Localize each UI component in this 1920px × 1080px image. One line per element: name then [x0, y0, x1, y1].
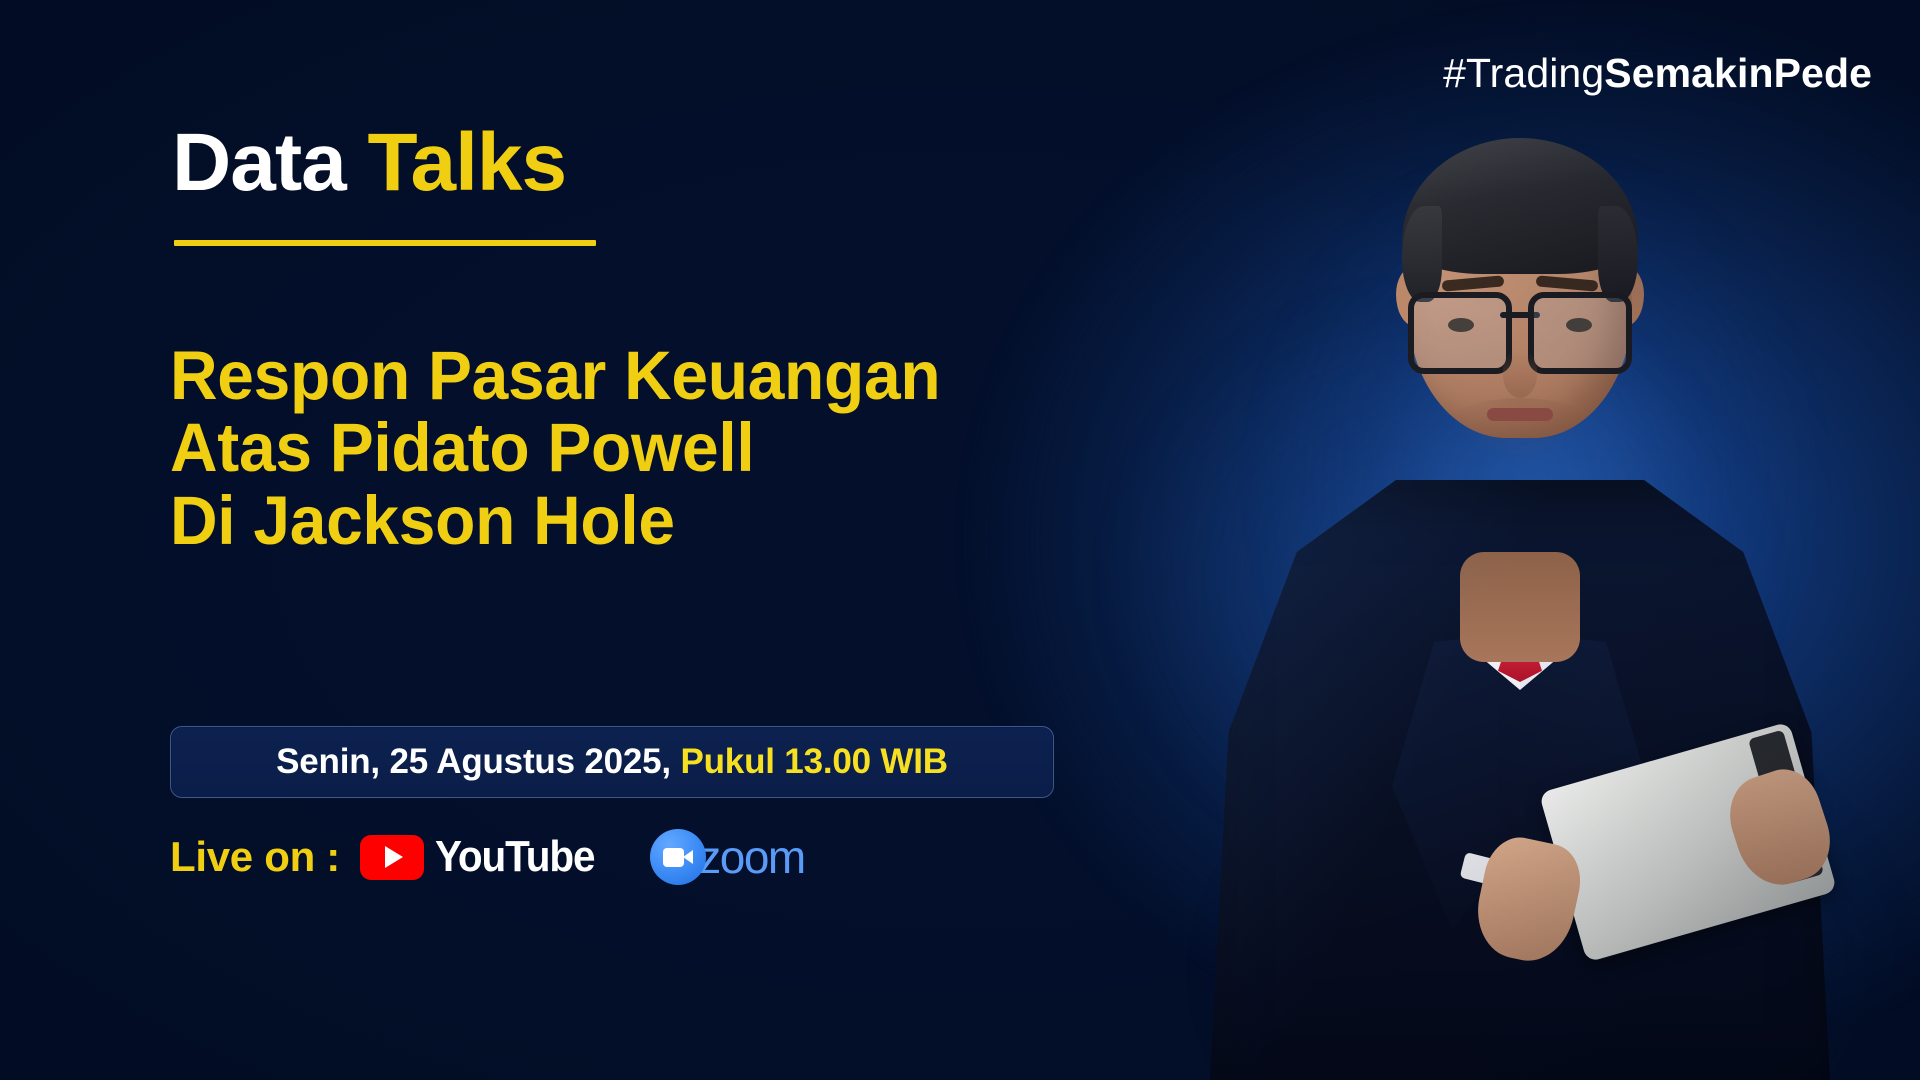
youtube-play-icon — [360, 835, 424, 880]
headline-line-1: Respon Pasar Keuangan — [170, 340, 1125, 412]
live-platforms-row: Live on : YouTube zoom — [170, 818, 805, 896]
video-camera-icon — [663, 848, 693, 867]
live-on-label: Live on : — [170, 833, 340, 881]
zoom-logo[interactable]: zoom — [650, 829, 804, 885]
hashtag-bold-part: SemakinPede — [1604, 50, 1872, 96]
headline-line-2: Atas Pidato Powell — [170, 412, 1125, 484]
show-title-first-word: Data — [172, 117, 346, 208]
schedule-time: Pukul 13.00 WIB — [680, 742, 947, 781]
zoom-video-camera-icon — [650, 829, 706, 885]
campaign-hashtag: #TradingSemakinPede — [1443, 50, 1872, 97]
zoom-wordmark: zoom — [698, 830, 804, 884]
show-title: Data Talks — [172, 122, 566, 204]
youtube-wordmark: YouTube — [435, 832, 594, 882]
show-title-second-word: Talks — [368, 117, 567, 208]
camera-lens-shape — [683, 850, 693, 864]
play-triangle-icon — [385, 846, 403, 868]
youtube-logo[interactable]: YouTube — [360, 832, 608, 882]
schedule-text: Senin, 25 Agustus 2025, Pukul 13.00 WIB — [276, 742, 948, 782]
promo-banner: #TradingSemakinPede Data Talks Respon Pa… — [0, 0, 1920, 1080]
show-title-underline — [174, 240, 596, 246]
event-headline: Respon Pasar Keuangan Atas Pidato Powell… — [170, 340, 1125, 557]
headline-line-3: Di Jackson Hole — [170, 485, 1125, 557]
schedule-date: Senin, 25 Agustus 2025, — [276, 742, 671, 781]
hashtag-light-part: #Trading — [1443, 50, 1604, 96]
schedule-badge: Senin, 25 Agustus 2025, Pukul 13.00 WIB — [170, 726, 1054, 798]
camera-body-shape — [663, 848, 684, 867]
